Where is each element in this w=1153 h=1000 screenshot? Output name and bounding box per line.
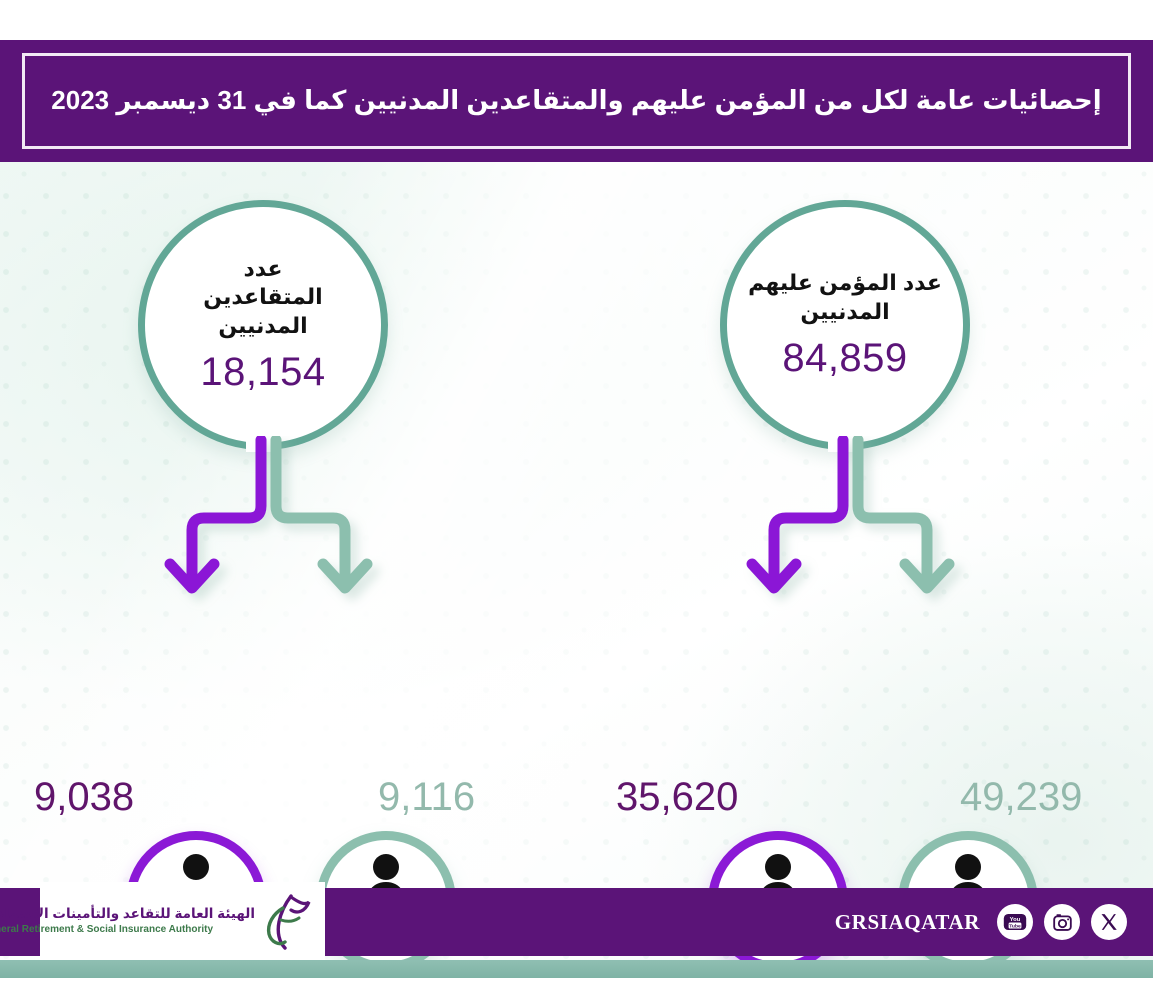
male-value-insured: 35,620	[616, 777, 738, 817]
footer-white-base	[0, 978, 1153, 1000]
svg-text:Tube: Tube	[1009, 923, 1021, 929]
youtube-icon[interactable]: You Tube	[997, 904, 1033, 940]
grsia-logo-icon	[261, 892, 315, 950]
footer-teal-band	[0, 960, 1153, 978]
social-links: You Tube GRSIAQATAR	[835, 888, 1127, 956]
group-retirees: عدد المتقاعدين المدنيين 18,154 9,038 9,1…	[18, 186, 538, 846]
social-handle: GRSIAQATAR	[835, 910, 980, 935]
x-twitter-icon[interactable]	[1091, 904, 1127, 940]
female-value-retirees: 9,116	[378, 777, 475, 817]
header-banner-frame: إحصائيات عامة لكل من المؤمن عليهم والمتق…	[22, 53, 1131, 149]
logo-text-block: الهيئة العامة للتقاعد والتأمينات الاجتما…	[0, 906, 255, 935]
page-title: إحصائيات عامة لكل من المؤمن عليهم والمتق…	[51, 84, 1101, 118]
logo-english-name: General Retirement & Social Insurance Au…	[0, 924, 255, 936]
infographic-poster: إحصائيات عامة لكل من المؤمن عليهم والمتق…	[0, 0, 1153, 1000]
logo-arabic-name: الهيئة العامة للتقاعد والتأمينات الاجتما…	[0, 906, 255, 922]
female-value-insured: 49,239	[960, 777, 1082, 817]
top-margin	[0, 0, 1153, 40]
total-circle-label-retirees: عدد المتقاعدين المدنيين	[163, 255, 363, 339]
svg-text:You: You	[1010, 917, 1021, 923]
instagram-icon[interactable]	[1044, 904, 1080, 940]
total-value-retirees: 18,154	[200, 350, 325, 395]
label-line-2: المتقاعدين المدنيين	[163, 283, 363, 339]
label-line-1: عدد	[163, 255, 363, 283]
header-banner: إحصائيات عامة لكل من المؤمن عليهم والمتق…	[0, 40, 1153, 162]
male-value-retirees: 9,038	[34, 777, 134, 817]
label-line-2: المدنيين	[748, 298, 942, 326]
total-circle-retirees: عدد المتقاعدين المدنيين 18,154	[138, 200, 388, 450]
label-line-1: عدد المؤمن عليهم	[748, 269, 942, 297]
organisation-logo: الهيئة العامة للتقاعد والتأمينات الاجتما…	[40, 882, 325, 960]
footer-bar: الهيئة العامة للتقاعد والتأمينات الاجتما…	[0, 888, 1153, 956]
total-circle-insured: عدد المؤمن عليهم المدنيين 84,859	[720, 200, 970, 450]
group-insured: عدد المؤمن عليهم المدنيين 84,859 35,620 …	[600, 186, 1120, 846]
connector-arrows-retirees	[18, 436, 538, 636]
connector-arrows-insured	[600, 436, 1120, 636]
total-value-insured: 84,859	[782, 336, 907, 381]
total-circle-label-insured: عدد المؤمن عليهم المدنيين	[748, 269, 942, 325]
